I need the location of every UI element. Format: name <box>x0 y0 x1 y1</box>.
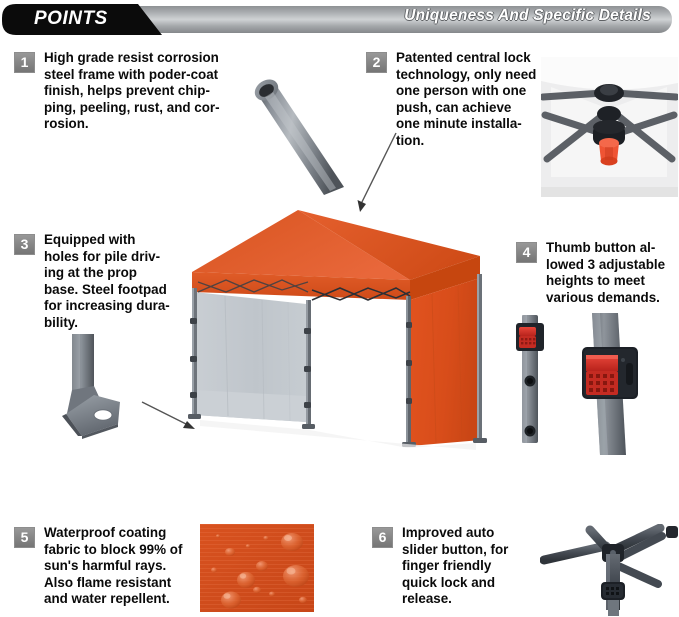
point-2-text: Patented central lock technology, only n… <box>396 50 536 150</box>
waterproof-fabric-swatch <box>200 524 314 612</box>
point-5-text: Waterproof coating fabric to block 99% o… <box>44 525 182 608</box>
infographic-canvas: Uniqueness And Specific Details POINTS 1… <box>0 0 679 617</box>
point-3-text: Equipped with holes for pile driv- ing a… <box>44 232 170 332</box>
point-6-badge: 6 <box>372 527 393 548</box>
point-1-badge: 1 <box>14 52 35 73</box>
point-5-badge: 5 <box>14 527 35 548</box>
point-4-badge: 4 <box>516 242 537 263</box>
point-4-text: Thumb button al- lowed 3 adjustable heig… <box>546 240 665 306</box>
point-2-badge: 2 <box>366 52 387 73</box>
header-tag-label: POINTS <box>34 8 108 30</box>
point-6-text: Improved auto slider button, for finger … <box>402 525 508 608</box>
point-3-badge: 3 <box>14 234 35 255</box>
steel-tube-photo <box>232 75 350 195</box>
point-1-text: High grade resist corrosion steel frame … <box>44 50 220 133</box>
central-lock-photo <box>541 57 678 197</box>
thumb-button-photo <box>500 305 679 455</box>
pop-up-canopy-tent-photo <box>170 200 490 460</box>
auto-slider-button-photo <box>540 524 679 616</box>
header-subtitle: Uniqueness And Specific Details <box>404 7 651 25</box>
header: Uniqueness And Specific Details POINTS <box>0 4 679 36</box>
